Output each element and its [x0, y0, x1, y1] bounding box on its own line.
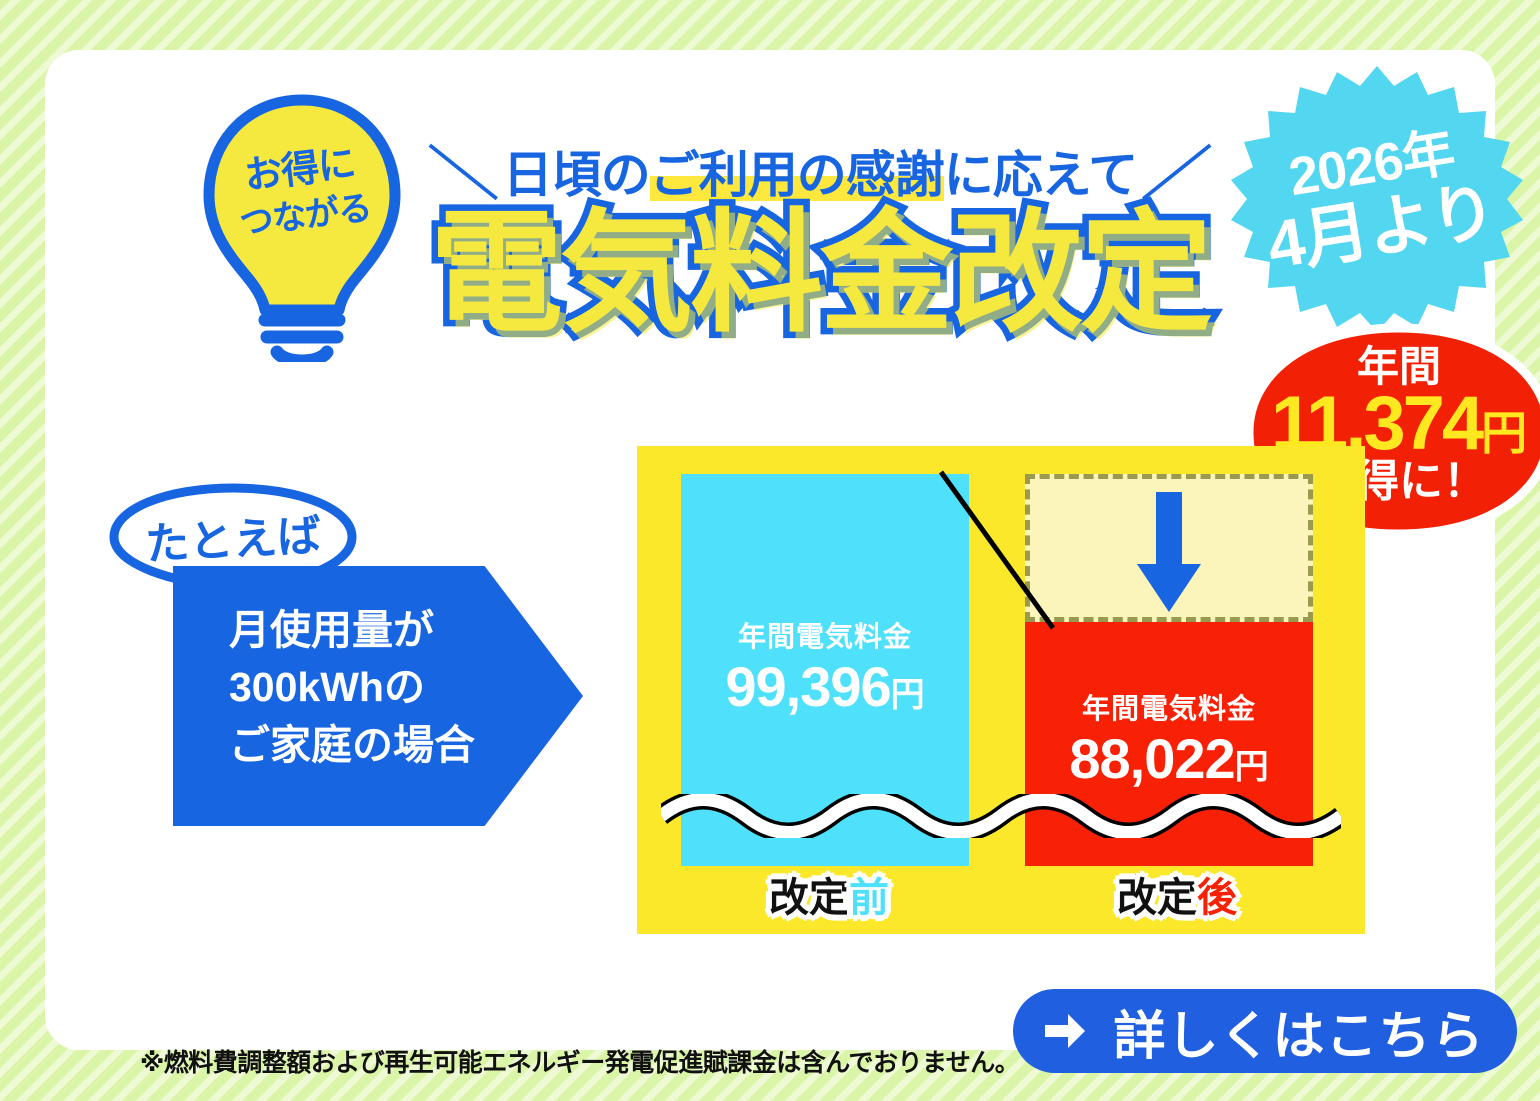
axis-after-black: 改定 — [1117, 876, 1197, 920]
example-condition-text: 月使用量が 300kWhの ご家庭の場合 — [229, 602, 559, 774]
example-line1: 月使用量が — [229, 602, 559, 659]
axis-label-after: 改定後 — [1117, 878, 1237, 918]
bar-before-value: 99,396円 — [681, 656, 969, 718]
axis-label-before: 改定前 — [769, 878, 889, 918]
example-condition-panel: 月使用量が 300kWhの ご家庭の場合 — [173, 566, 583, 826]
footnote: ※燃料費調整額および再生可能エネルギー発電促進賦課金は含んでおりません。 — [140, 1043, 1019, 1079]
example-line3: ご家庭の場合 — [229, 717, 559, 774]
decrease-arrow — [1137, 492, 1201, 612]
kicker-text: 日頃のご利用の感謝に応えて — [503, 149, 1138, 202]
axis-before-black: 改定 — [769, 876, 849, 920]
comparison-chart: 年間電気料金 99,396円 年間電気料金 88,022円 改定前 改定後 — [637, 446, 1365, 934]
bar-before-caption: 年間電気料金 — [681, 622, 969, 653]
axis-break-wave — [661, 794, 1341, 838]
slash-right-icon: ／ — [1140, 146, 1212, 204]
kicker-highlight: ご利用の感謝 — [650, 147, 944, 203]
axis-before-accent: 前 — [849, 876, 889, 920]
bar-after-yen: 円 — [1235, 748, 1269, 786]
wave-icon — [661, 794, 1341, 838]
bar-after-value: 88,022円 — [1025, 728, 1313, 790]
axis-after-accent: 後 — [1197, 876, 1237, 920]
kicker-post: に応えて — [944, 147, 1138, 203]
lightbulb-icon — [195, 92, 410, 362]
connector-line — [937, 466, 1057, 636]
bar-before-amount: 99,396 — [725, 655, 890, 718]
connector-line-icon — [937, 466, 1057, 636]
arrow-down-icon — [1137, 492, 1201, 612]
page-title: 電気料金改定 — [415, 208, 1225, 341]
main-card: お得に つながる ＼ 日頃のご利用の感謝に応えて ／ 電気料金改定 2026年 … — [45, 50, 1495, 1050]
kicker-line: ＼ 日頃のご利用の感謝に応えて ／ — [435, 146, 1205, 204]
kicker-pre: 日頃の — [503, 147, 650, 203]
bar-before-yen: 円 — [891, 676, 925, 714]
lightbulb-badge: お得に つながる — [195, 92, 410, 362]
bar-after-caption: 年間電気料金 — [1025, 694, 1313, 725]
details-button-label: 詳しくはこちら — [1113, 994, 1484, 1069]
bar-before-label: 年間電気料金 99,396円 — [681, 622, 969, 717]
slash-left-icon: ＼ — [428, 146, 500, 204]
starburst-icon — [1231, 64, 1523, 334]
example-line2: 300kWhの — [229, 659, 559, 716]
bar-after-label: 年間電気料金 88,022円 — [1025, 694, 1313, 789]
bar-after-amount: 88,022 — [1069, 727, 1234, 790]
start-date-badge: 2026年 4月より — [1231, 64, 1523, 334]
details-button[interactable]: 詳しくはこちら — [1013, 989, 1517, 1073]
arrow-right-icon — [1045, 1014, 1085, 1048]
